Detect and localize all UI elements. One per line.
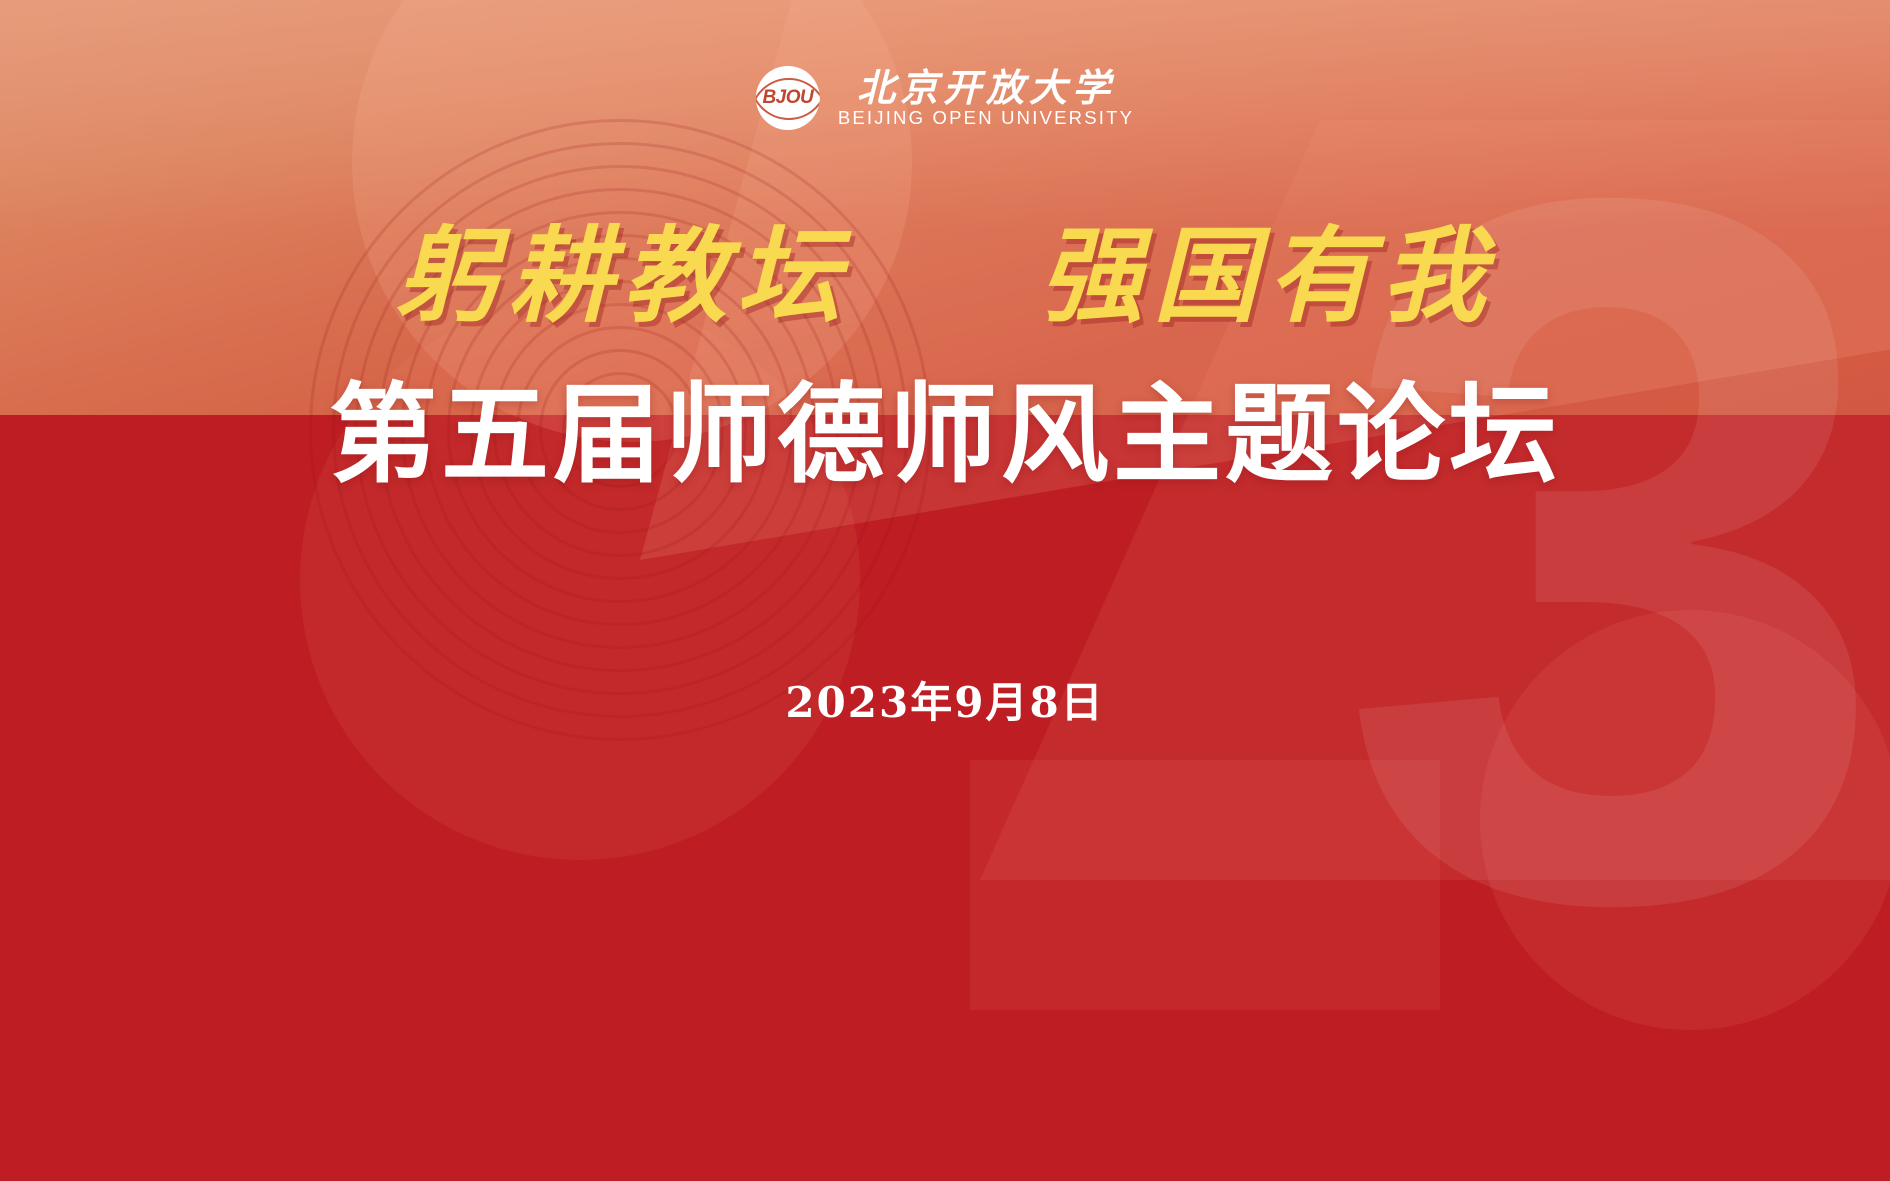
poster-canvas: 3 BJOU 北京开放大学 BEIJING OPEN UNIVERSITY 躬耕…: [0, 0, 1890, 1181]
page-title: 第五届师德师风主题论坛: [0, 377, 1890, 494]
decor-rectangle-right: [970, 760, 1440, 1010]
event-date: 2023年9月8日: [0, 682, 1890, 724]
headline-part-1: 躬耕教坛: [395, 214, 851, 337]
logo-mark-text: BJOU: [762, 87, 813, 109]
university-logo: BJOU 北京开放大学 BEIJING OPEN UNIVERSITY: [756, 66, 1134, 130]
headline-part-2: 强国有我: [1039, 214, 1495, 337]
decor-circle-right: [1480, 610, 1890, 1030]
logo-name-cn: 北京开放大学: [857, 69, 1115, 107]
logo-name-en: BEIJING OPEN UNIVERSITY: [838, 109, 1134, 128]
logo-text-block: 北京开放大学 BEIJING OPEN UNIVERSITY: [838, 69, 1134, 128]
bjou-circle-logo-icon: BJOU: [756, 66, 820, 130]
gold-headline: 躬耕教坛 强国有我: [0, 224, 1890, 328]
